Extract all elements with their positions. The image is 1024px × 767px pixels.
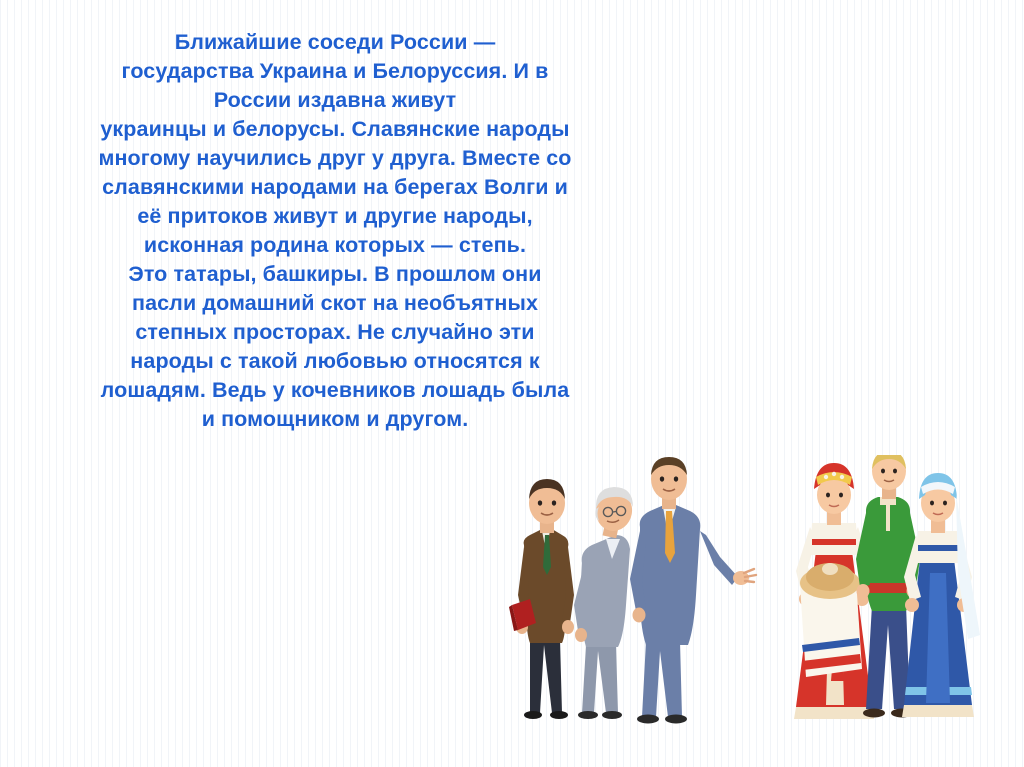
slide: Ближайшие соседи России — государства Ук…	[0, 0, 1024, 767]
text-line-14: и помощником и другом.	[30, 405, 640, 434]
text-line-1: Ближайшие соседи России —	[30, 28, 640, 57]
text-line-8: исконная родина которых — степь.	[30, 231, 640, 260]
text-line-13: лошадям. Ведь у кочевников лошадь была	[30, 376, 640, 405]
text-line-9: Это татары, башкиры. В прошлом они	[30, 260, 640, 289]
text-line-3: России издавна живут	[30, 86, 640, 115]
slide-body-text: Ближайшие соседи России — государства Ук…	[30, 28, 640, 434]
text-line-4: украинцы и белорусы. Славянские народы	[30, 115, 640, 144]
text-line-10: пасли домашний скот на необъятных	[30, 289, 640, 318]
people-illustration	[500, 455, 1000, 755]
text-line-2: государства Украина и Белоруссия. И в	[30, 57, 640, 86]
man-in-blue-suit	[630, 457, 756, 724]
woman-in-blue-sarafan	[902, 473, 980, 717]
boy-in-brown-jacket	[509, 479, 574, 719]
text-line-11: степных просторах. Не случайно эти	[30, 318, 640, 347]
text-line-5: многому научились друг у друга. Вместе с…	[30, 144, 640, 173]
text-line-7: её притоков живут и другие народы,	[30, 202, 640, 231]
text-line-12: народы с такой любовью относятся к	[30, 347, 640, 376]
elderly-man-in-grey-suit	[574, 487, 635, 719]
text-line-6: славянскими народами на берегах Волги и	[30, 173, 640, 202]
